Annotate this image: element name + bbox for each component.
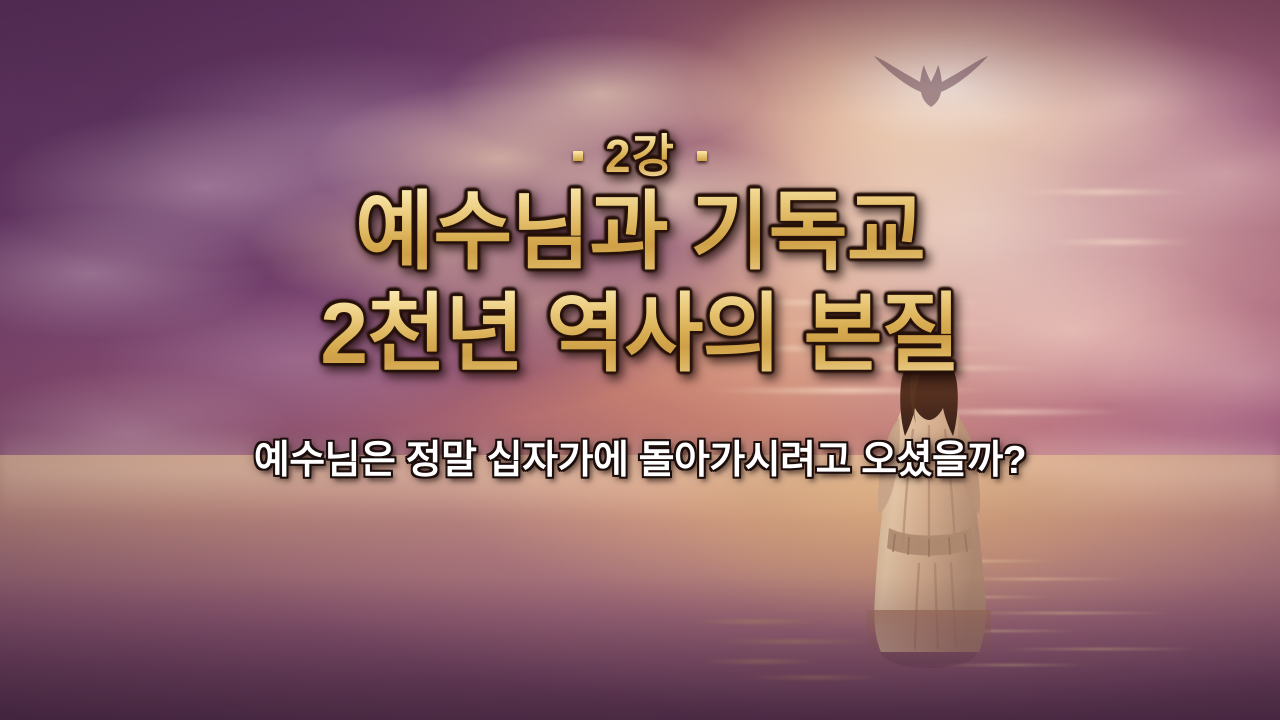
title-line-2: 2천년 역사의 본질 — [320, 285, 959, 385]
bullet-dot-right-icon — [697, 151, 707, 161]
title-line-1: 예수님과 기독교 — [355, 183, 925, 283]
subtitle-question: 예수님은 정말 십자가에 돌아가시려고 오셨을까? — [254, 429, 1026, 485]
lesson-number-label: 2강 — [605, 133, 675, 179]
title-text-block: 2강 예수님과 기독교 2천년 역사의 본질 예수님은 정말 십자가에 돌아가시… — [0, 0, 1280, 720]
video-thumbnail: 2강 예수님과 기독교 2천년 역사의 본질 예수님은 정말 십자가에 돌아가시… — [0, 0, 1280, 720]
bullet-dot-left-icon — [573, 151, 583, 161]
lesson-badge: 2강 — [573, 133, 707, 179]
